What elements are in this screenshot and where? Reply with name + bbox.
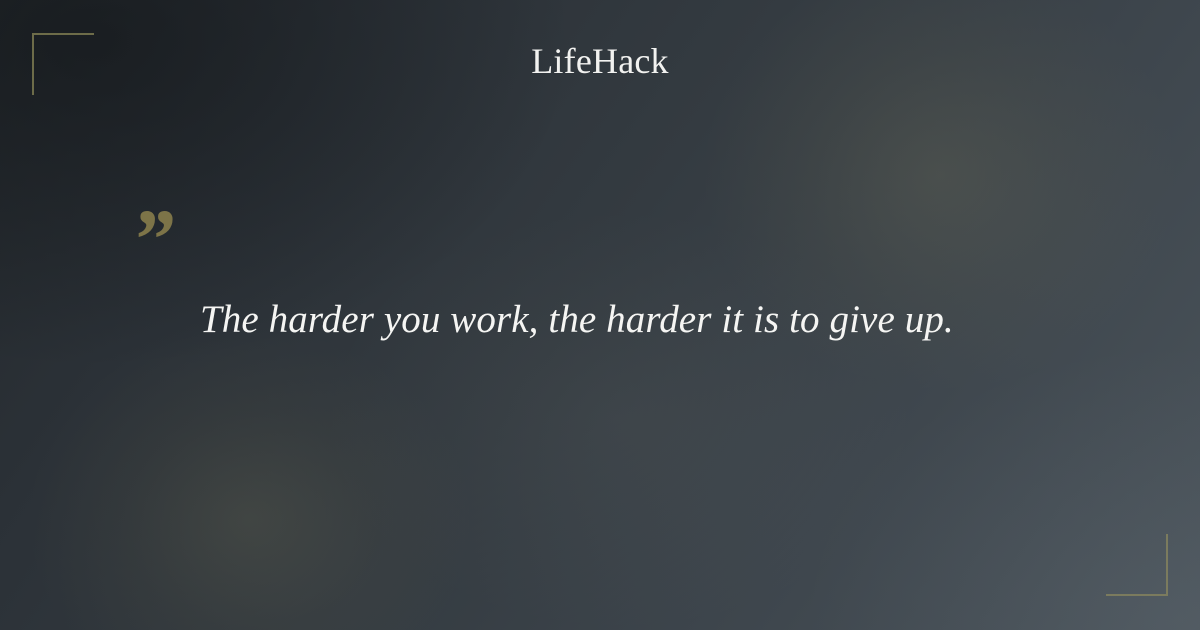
- quotation-mark-icon: ”: [131, 196, 174, 282]
- corner-bracket-bottom-right-icon: [1106, 534, 1168, 596]
- brand-logo: LifeHack: [0, 38, 1200, 84]
- quote-card: LifeHack ” The harder you work, the hard…: [0, 0, 1200, 630]
- quote-text: The harder you work, the harder it is to…: [200, 294, 1060, 346]
